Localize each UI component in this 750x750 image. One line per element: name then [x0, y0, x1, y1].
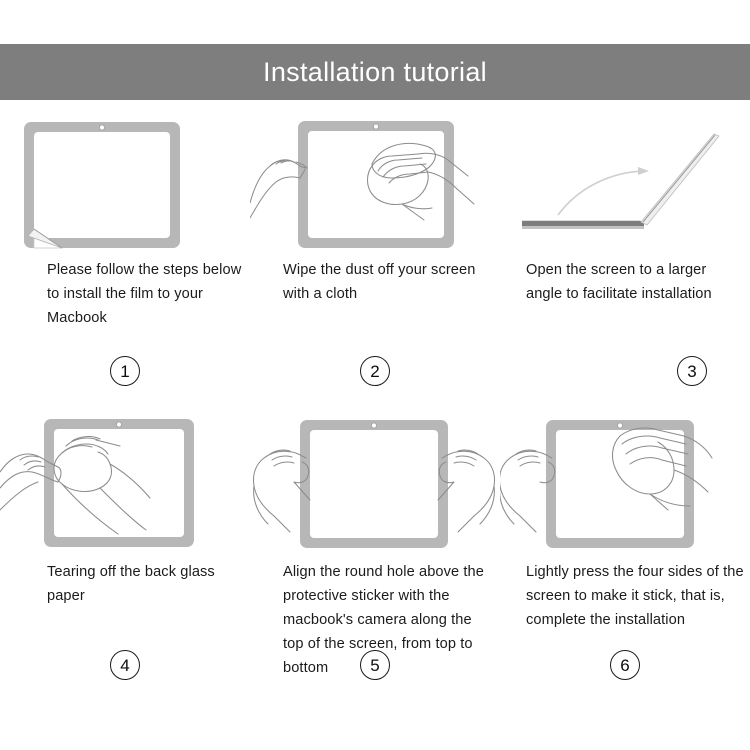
step-card-3: Open the screen to a larger angle to fac… — [500, 108, 750, 410]
step-number-row-6: 6 — [500, 650, 750, 680]
illustration-tear-back-paper — [0, 410, 250, 560]
step-number-badge-2: 2 — [360, 356, 390, 386]
step-number-row-1: 1 — [0, 356, 250, 386]
step-description-3: Open the screen to a larger angle to fac… — [526, 258, 744, 306]
header-banner: Installation tutorial — [0, 44, 750, 100]
step-card-1: Please follow the steps below to install… — [0, 108, 250, 410]
illustration-open-laptop-lid — [500, 108, 750, 258]
step-description-4: Tearing off the back glass paper — [47, 560, 244, 608]
illustration-align-camera-hole — [250, 410, 500, 560]
step-description-1: Please follow the steps below to install… — [47, 258, 244, 330]
step-number-badge-6: 6 — [610, 650, 640, 680]
step-card-4: Tearing off the back glass paper 4 — [0, 410, 250, 700]
step-number-badge-5: 5 — [360, 650, 390, 680]
step-number-badge-3: 3 — [677, 356, 707, 386]
step-description-6: Lightly press the four sides of the scre… — [526, 560, 744, 632]
illustration-macbook-peeling-film — [0, 108, 250, 258]
step-number-row-3: 3 — [632, 356, 750, 386]
page-title: Installation tutorial — [263, 59, 487, 86]
step-number-row-2: 2 — [250, 356, 500, 386]
step-description-2: Wipe the dust off your screen with a clo… — [283, 258, 494, 306]
illustration-wipe-screen — [250, 108, 500, 258]
step-number-badge-1: 1 — [110, 356, 140, 386]
step-card-5: Align the round hole above the protectiv… — [250, 410, 500, 700]
illustration-press-four-sides — [500, 410, 750, 560]
step-number-badge-4: 4 — [110, 650, 140, 680]
step-number-row-4: 4 — [0, 650, 250, 680]
steps-grid: Please follow the steps below to install… — [0, 108, 750, 700]
step-card-6: Lightly press the four sides of the scre… — [500, 410, 750, 700]
step-number-row-5: 5 — [250, 650, 500, 680]
step-card-2: Wipe the dust off your screen with a clo… — [250, 108, 500, 410]
